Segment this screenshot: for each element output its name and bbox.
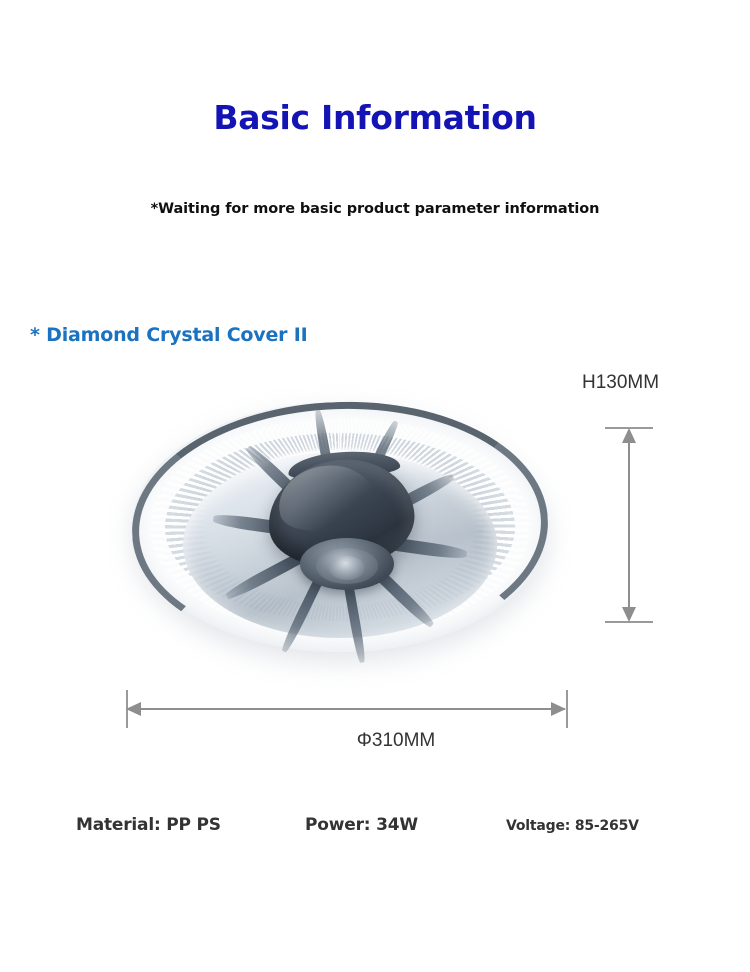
spec-material: Material: PP PS	[76, 815, 221, 835]
spec-power: Power: 34W	[305, 815, 418, 835]
dimension-height-label: H130MM	[582, 372, 659, 394]
product-image	[128, 396, 552, 664]
dimension-height-line	[628, 430, 630, 620]
arrow-down-icon	[622, 607, 636, 622]
page-subtitle: *Waiting for more basic product paramete…	[0, 201, 750, 217]
section-label-product-variant: * Diamond Crystal Cover II	[30, 324, 307, 346]
fan-hub-inner	[329, 556, 365, 580]
dimension-diameter-extension-right	[566, 690, 568, 728]
dimension-diameter-label: Φ310MM	[0, 730, 750, 752]
arrow-left-icon	[126, 702, 141, 716]
dimension-diameter-line	[130, 708, 565, 710]
spec-voltage: Voltage: 85-265V	[506, 818, 639, 834]
arrow-right-icon	[551, 702, 566, 716]
arrow-up-icon	[622, 428, 636, 443]
page-title: Basic Information	[0, 98, 750, 137]
